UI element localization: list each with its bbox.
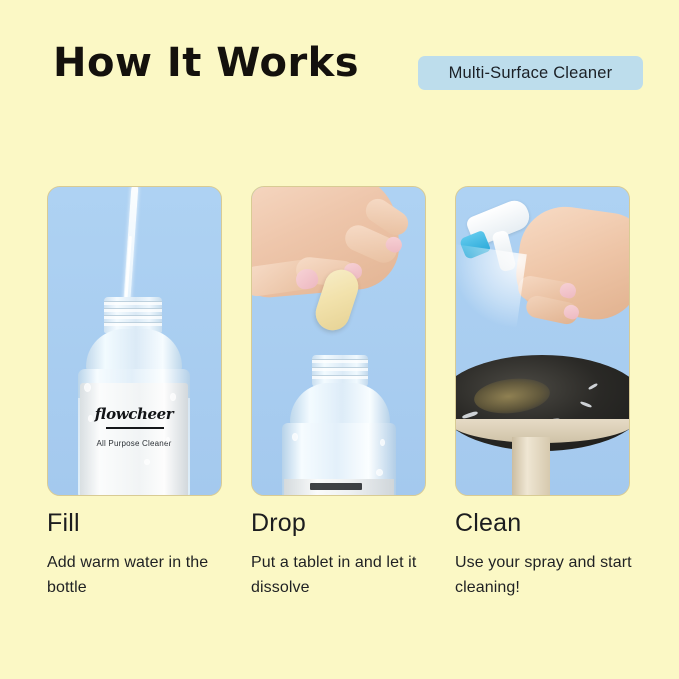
table-pedestal: [512, 437, 550, 496]
caption-body-clean: Use your spray and start cleaning!: [455, 550, 641, 600]
bottle-label-edge: [284, 479, 394, 495]
bottle-neck: [104, 297, 162, 333]
caption-drop: Drop Put a tablet in and let it dissolve: [251, 508, 437, 600]
how-it-works-infographic: How It Works Multi-Surface Cleaner flowc: [0, 0, 679, 679]
water-droplet: [84, 383, 91, 392]
surface-speck: [588, 383, 598, 391]
caption-title-clean: Clean: [455, 508, 641, 538]
water-droplet: [170, 393, 176, 401]
bottle-sub-label-text: All Purpose Cleaner: [80, 439, 188, 448]
caption-title-drop: Drop: [251, 508, 437, 538]
step-panel-clean: [455, 186, 630, 496]
step-panel-drop: [251, 186, 426, 496]
brand-underline: [106, 427, 164, 429]
fill-scene-illustration: flowcheer All Purpose Cleaner: [48, 187, 221, 495]
page-title: How It Works: [53, 40, 359, 86]
drop-scene-illustration: [252, 187, 425, 495]
header: How It Works Multi-Surface Cleaner: [0, 44, 679, 104]
bottle-shoulder: [86, 329, 182, 373]
caption-title-fill: Fill: [47, 508, 233, 538]
clean-scene-illustration: [456, 187, 629, 495]
water-droplet: [88, 415, 93, 422]
wet-stain-patch: [472, 375, 551, 417]
caption-clean: Clean Use your spray and start cleaning!: [455, 508, 641, 600]
water-droplet: [292, 433, 298, 441]
water-stream-icon: [122, 186, 138, 315]
step-captions: Fill Add warm water in the bottle Drop P…: [0, 508, 679, 628]
water-droplet: [144, 459, 150, 465]
water-droplet: [376, 469, 383, 476]
caption-fill: Fill Add warm water in the bottle: [47, 508, 233, 600]
step-image-panels: flowcheer All Purpose Cleaner: [0, 186, 679, 496]
water-droplet: [166, 437, 170, 443]
caption-body-drop: Put a tablet in and let it dissolve: [251, 550, 437, 600]
surface-speck: [580, 401, 592, 408]
bottle-brand-text: flowcheer: [80, 405, 188, 423]
spray-mist: [455, 244, 527, 327]
bottle-shoulder: [290, 383, 390, 427]
step-panel-fill: flowcheer All Purpose Cleaner: [47, 186, 222, 496]
caption-body-fill: Add warm water in the bottle: [47, 550, 233, 600]
product-category-badge: Multi-Surface Cleaner: [418, 56, 643, 90]
water-droplet: [380, 439, 385, 446]
